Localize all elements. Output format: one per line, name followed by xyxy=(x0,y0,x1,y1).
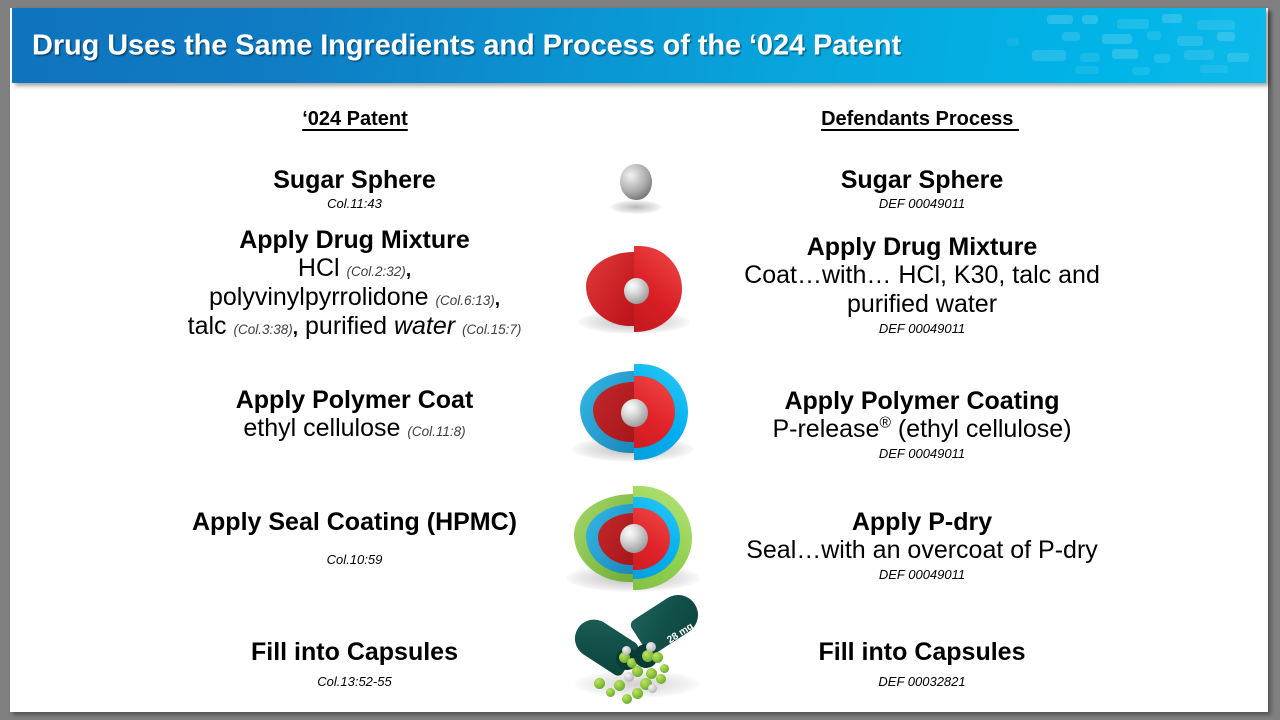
left-step-heading: Apply Polymer Coat xyxy=(102,386,607,414)
right-step-heading: Apply P-dry xyxy=(682,508,1162,536)
right-step-body: P-release® (ethyl cellulose) xyxy=(682,415,1162,444)
right-step-heading: Sugar Sphere xyxy=(682,166,1162,194)
right-step-citation: DEF 00049011 xyxy=(682,565,1162,585)
left-step-polymer-coat: Apply Polymer Coat ethyl cellulose (Col.… xyxy=(102,386,607,443)
slide: Drug Uses the Same Ingredients and Proce… xyxy=(10,8,1268,712)
slide-title: Drug Uses the Same Ingredients and Proce… xyxy=(32,29,901,62)
left-step-seal-coating: Apply Seal Coating (HPMC) Col.10:59 xyxy=(102,508,607,570)
right-step-fill-capsules: Fill into Capsules DEF 00032821 xyxy=(682,638,1162,692)
left-step-heading: Sugar Sphere xyxy=(102,166,607,194)
left-step-sugar-sphere: Sugar Sphere Col.11:43 xyxy=(102,166,607,214)
right-step-drug-mixture: Apply Drug Mixture Coat…with… HCl, K30, … xyxy=(682,233,1162,339)
ingredient-talc: talc xyxy=(188,312,227,340)
right-step-citation: DEF 00032821 xyxy=(682,672,1162,692)
ingredient-hcl-citation: (Col.2:32) xyxy=(347,264,406,279)
left-step-body: ethyl cellulose (Col.11:8) xyxy=(102,414,607,443)
left-step-heading: Fill into Capsules xyxy=(102,638,607,666)
right-step-citation: DEF 00049011 xyxy=(682,444,1162,464)
right-step-citation: DEF 00049011 xyxy=(682,194,1162,214)
right-step-body-line2: purified water xyxy=(682,290,1162,319)
right-step-body-line1: Coat…with… HCl, K30, talc and xyxy=(682,261,1162,290)
left-step-heading: Apply Seal Coating (HPMC) xyxy=(102,508,607,536)
ingredient-talc-citation: (Col.3:38) xyxy=(234,322,293,337)
ingredient-ethyl-cellulose-citation: (Col.11:8) xyxy=(407,424,465,439)
left-step-drug-mixture: Apply Drug Mixture HCl (Col.2:32), polyv… xyxy=(102,226,607,341)
ingredient-hcl: HCl xyxy=(298,254,340,282)
right-step-p-dry: Apply P-dry Seal…with an overcoat of P-d… xyxy=(682,508,1162,585)
product-p-release: P-release xyxy=(772,415,879,443)
sugar-sphere-graphic xyxy=(608,162,668,220)
slide-title-bar: Drug Uses the Same Ingredients and Proce… xyxy=(12,8,1266,83)
right-step-sugar-sphere: Sugar Sphere DEF 00049011 xyxy=(682,166,1162,214)
column-header-patent: ‘024 Patent xyxy=(190,108,520,131)
left-step-fill-capsules: Fill into Capsules Col.13:52-55 xyxy=(102,638,607,692)
column-header-defendants: Defendants Process xyxy=(750,108,1090,131)
ingredient-ethyl-cellulose: ethyl cellulose xyxy=(243,414,400,442)
right-step-body: Seal…with an overcoat of P-dry xyxy=(682,536,1162,565)
seal-layer-graphic xyxy=(566,484,708,604)
right-step-heading: Apply Polymer Coating xyxy=(682,387,1162,415)
right-step-polymer-coating: Apply Polymer Coating P-release® (ethyl … xyxy=(682,387,1162,464)
polymer-layer-graphic xyxy=(572,362,702,474)
ingredient-pvp-citation: (Col.6:13) xyxy=(435,293,494,308)
ingredient-pvp: polyvinylpyrrolidone xyxy=(209,283,429,311)
right-step-citation: DEF 00049011 xyxy=(682,319,1162,339)
registered-trademark-icon: ® xyxy=(879,415,890,432)
ingredient-purified: purified xyxy=(305,312,387,340)
left-step-citation: Col.10:59 xyxy=(102,550,607,570)
ingredient-line-2: polyvinylpyrrolidone (Col.6:13), xyxy=(102,283,607,312)
left-step-ingredients: HCl (Col.2:32), polyvinylpyrrolidone (Co… xyxy=(102,254,607,341)
right-step-heading: Fill into Capsules xyxy=(682,638,1162,666)
capsule-graphic: 28 mg xyxy=(570,608,710,708)
left-step-citation: Col.13:52-55 xyxy=(102,672,607,692)
drug-layer-graphic xyxy=(578,242,698,346)
left-step-citation: Col.11:43 xyxy=(102,194,607,214)
right-step-heading: Apply Drug Mixture xyxy=(682,233,1162,261)
product-p-release-detail: (ethyl cellulose) xyxy=(891,415,1072,443)
ingredient-water: water xyxy=(394,312,455,340)
ingredient-line-1: HCl (Col.2:32), xyxy=(102,254,607,283)
ingredient-water-citation: (Col.15:7) xyxy=(462,322,521,337)
ingredient-line-3: talc (Col.3:38), purified water (Col.15:… xyxy=(102,312,607,341)
slide-content: ‘024 Patent Defendants Process Sugar Sph… xyxy=(10,90,1268,712)
left-step-heading: Apply Drug Mixture xyxy=(102,226,607,254)
